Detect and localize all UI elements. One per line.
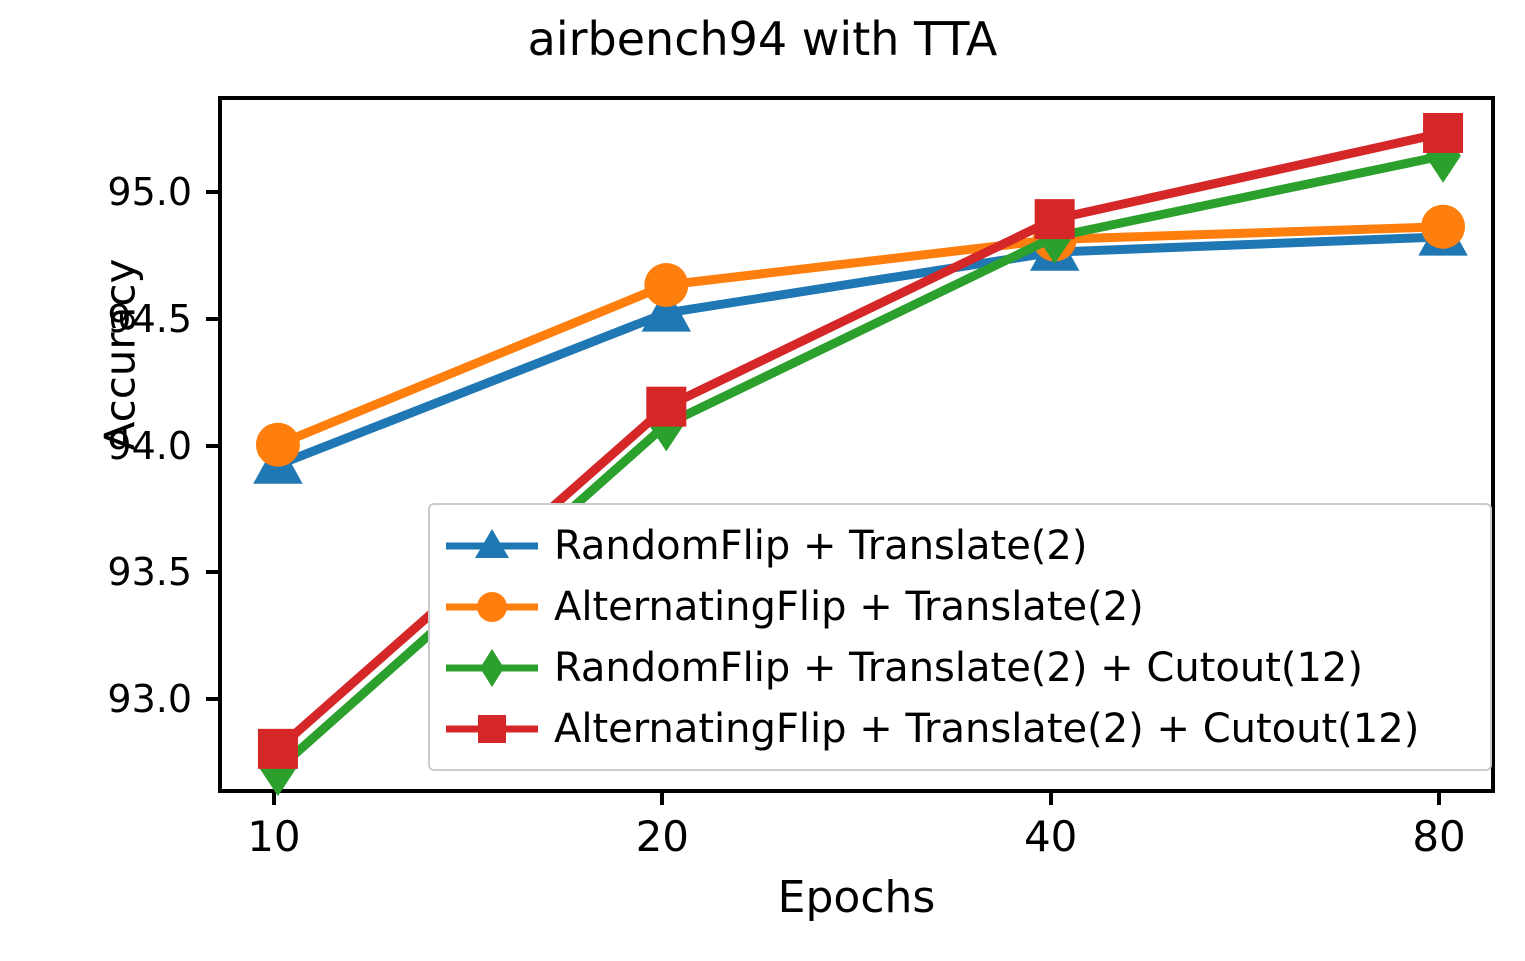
legend-label: AlternatingFlip + Translate(2) (554, 587, 1144, 627)
chart-figure: airbench94 with TTA Accuracy Epochs Rand… (0, 0, 1525, 961)
series-line (278, 237, 1443, 465)
y-tick-mark (206, 697, 218, 701)
x-tick-mark (1437, 793, 1441, 805)
legend-marker (480, 649, 504, 687)
y-tick-mark (206, 317, 218, 321)
x-tick-mark (660, 793, 664, 805)
x-tick-label: 80 (1412, 812, 1465, 861)
legend-handle-svg (444, 645, 540, 691)
data-point-marker (1421, 205, 1465, 249)
chart-legend: RandomFlip + Translate(2)AlternatingFlip… (428, 503, 1492, 771)
legend-marker-square-icon (444, 706, 540, 752)
legend-item[interactable]: AlternatingFlip + Translate(2) (444, 576, 1476, 637)
y-tick-mark (206, 570, 218, 574)
legend-item[interactable]: AlternatingFlip + Translate(2) + Cutout(… (444, 698, 1476, 759)
legend-item[interactable]: RandomFlip + Translate(2) (444, 515, 1476, 576)
legend-handle-svg (444, 584, 540, 630)
y-tick-label: 94.5 (0, 297, 192, 341)
x-tick-label: 20 (636, 812, 689, 861)
series-triangle-up (253, 211, 1468, 484)
legend-marker-circle-icon (444, 584, 540, 630)
y-tick-label: 94.0 (0, 424, 192, 468)
data-point-marker (1423, 113, 1463, 153)
data-point-marker (646, 387, 686, 427)
y-tick-label: 95.0 (0, 170, 192, 214)
chart-title: airbench94 with TTA (0, 14, 1525, 65)
data-point-marker (644, 263, 688, 307)
x-tick-mark (1049, 793, 1053, 805)
data-point-marker (258, 729, 298, 769)
legend-label: RandomFlip + Translate(2) (554, 526, 1087, 566)
legend-marker-diamond-icon (444, 645, 540, 691)
data-point-marker (1035, 199, 1075, 239)
series-line (278, 227, 1443, 445)
y-axis-label: Accuracy (96, 155, 145, 555)
x-axis-label: Epochs (218, 872, 1495, 923)
data-point-marker (256, 423, 300, 467)
x-tick-label: 40 (1024, 812, 1077, 861)
legend-handle-svg (444, 706, 540, 752)
x-tick-label: 10 (247, 812, 300, 861)
legend-label: RandomFlip + Translate(2) + Cutout(12) (554, 648, 1363, 688)
legend-marker (477, 592, 507, 622)
y-tick-label: 93.5 (0, 550, 192, 594)
x-tick-mark (272, 793, 276, 805)
legend-marker-triangle-up-icon (444, 523, 540, 569)
y-tick-label: 93.0 (0, 677, 192, 721)
y-tick-mark (206, 444, 218, 448)
legend-item[interactable]: RandomFlip + Translate(2) + Cutout(12) (444, 637, 1476, 698)
legend-marker (478, 715, 506, 743)
legend-label: AlternatingFlip + Translate(2) + Cutout(… (554, 709, 1419, 749)
y-tick-mark (206, 190, 218, 194)
legend-handle-svg (444, 523, 540, 569)
